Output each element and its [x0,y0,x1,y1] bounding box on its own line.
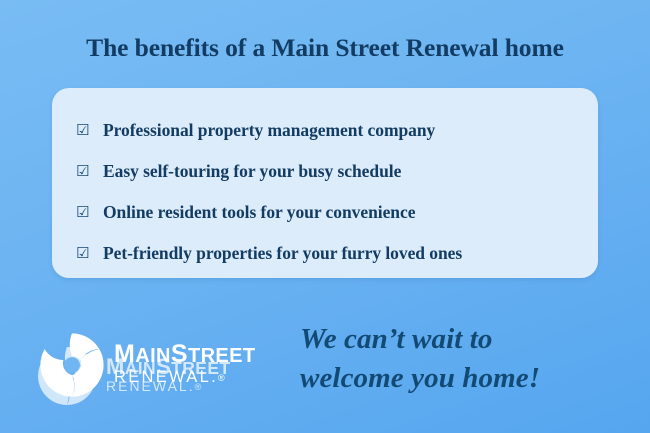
check-box-icon: ☑ [76,123,103,139]
logo-letters-ain: AIN [135,345,171,367]
list-item: ☑ Easy self-touring for your busy schedu… [76,151,580,192]
check-box-icon: ☑ [76,164,103,180]
list-item-label: Online resident tools for your convenien… [103,202,415,223]
tagline: We can’t wait to welcome you home! [300,320,630,397]
check-box-icon: ☑ [76,205,103,221]
list-item: ☑ Professional property management compa… [76,110,580,151]
list-item: ☑ Online resident tools for your conveni… [76,192,580,233]
page-title: The benefits of a Main Street Renewal ho… [0,33,650,63]
logo-letters-treet: TREET [188,345,256,367]
logo-renewal-text: RENEWAL [114,368,211,386]
tagline-line-1: We can’t wait to [300,320,630,359]
check-box-icon: ☑ [76,246,103,262]
list-item: ☑ Pet-friendly properties for your furry… [76,233,580,274]
promotional-poster: The benefits of a Main Street Renewal ho… [0,0,650,433]
logo-word-mainstreet: MAINSTREET [114,342,256,368]
list-item-label: Pet-friendly properties for your furry l… [103,243,462,264]
logo-word-renewal: RENEWAL.® [114,367,256,388]
list-item-label: Professional property management company [103,120,435,141]
registered-mark-icon: ® [218,373,227,383]
benefits-list: ☑ Professional property management compa… [76,110,580,274]
benefits-card: ☑ Professional property management compa… [52,88,598,278]
logo-letter-s: S [171,340,188,368]
logo-wordmark: MAINSTREET RENEWAL.® [114,342,256,388]
list-item-label: Easy self-touring for your busy schedule [103,161,401,182]
logo-letter-m: M [114,340,135,368]
pinwheel-icon [36,329,108,401]
company-logo: MAINSTREET RENEWAL.® [36,329,256,401]
logo-renewal-period: . [211,368,218,386]
tagline-line-2: welcome you home! [300,359,630,398]
